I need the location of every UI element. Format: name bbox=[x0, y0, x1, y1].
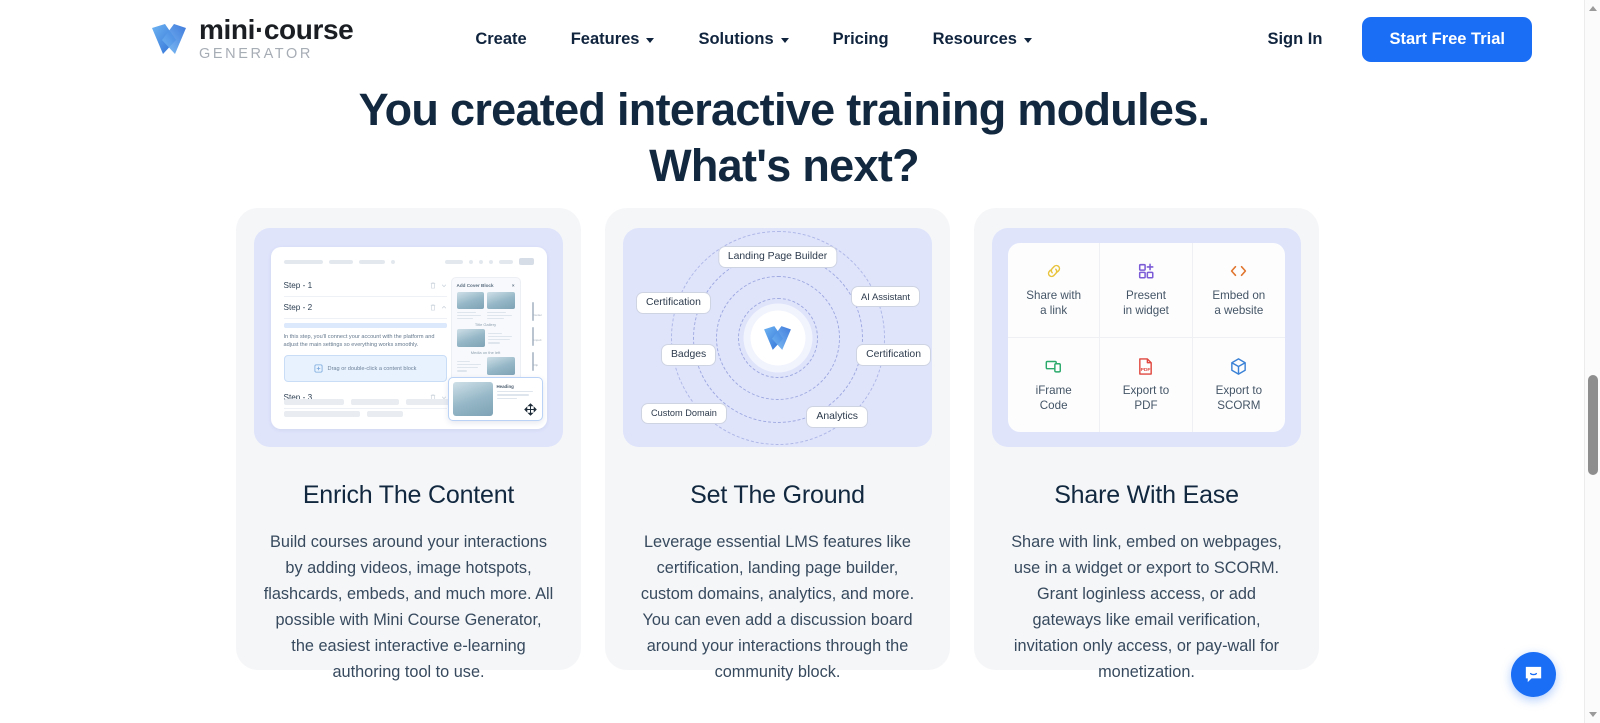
chevron-up-icon[interactable] bbox=[441, 304, 447, 311]
brand-wordmark: mini·course GENERATOR bbox=[199, 16, 353, 62]
share-option-share-with-a-link[interactable]: Share witha link bbox=[1008, 243, 1100, 338]
trash-icon[interactable] bbox=[430, 304, 436, 311]
panel-header: Add Cover Block × bbox=[457, 283, 515, 288]
nav-label: Solutions bbox=[698, 30, 773, 49]
card-title: Share With Ease bbox=[1054, 481, 1239, 510]
feature-cards: Step - 1 Step - 2 bbox=[236, 208, 1319, 670]
editor-mockup: Step - 1 Step - 2 bbox=[271, 247, 547, 429]
share-option-export-to-scorm[interactable]: Export toSCORM bbox=[1193, 338, 1285, 433]
sign-in-link[interactable]: Sign In bbox=[1267, 30, 1322, 49]
chevron-down-icon[interactable] bbox=[441, 282, 447, 289]
chevron-down-icon bbox=[781, 38, 789, 43]
brand-tagline: GENERATOR bbox=[199, 47, 353, 62]
pdf-icon: PDF bbox=[1137, 357, 1154, 376]
card-title: Set The Ground bbox=[690, 481, 865, 510]
scroll-down-arrow[interactable] bbox=[1585, 706, 1600, 723]
widget-add-icon bbox=[1137, 262, 1155, 281]
editor-toolbar bbox=[284, 258, 535, 266]
editor-progress-bar bbox=[284, 323, 447, 328]
nav-item-solutions[interactable]: Solutions bbox=[698, 30, 788, 49]
panel-thumb-row bbox=[457, 292, 515, 309]
scroll-up-arrow[interactable] bbox=[1585, 0, 1600, 17]
dragged-content-block[interactable]: Heading bbox=[448, 377, 543, 421]
thumbnail[interactable] bbox=[457, 329, 485, 347]
thumbnail[interactable] bbox=[487, 292, 515, 309]
code-icon bbox=[1229, 262, 1248, 281]
chevron-down-icon bbox=[646, 38, 654, 43]
feature-card-share-with-ease[interactable]: Share witha link bbox=[974, 208, 1319, 670]
feature-card-set-the-ground[interactable]: Landing Page Builder Certification AI As… bbox=[605, 208, 950, 670]
card-description: Leverage essential LMS features like cer… bbox=[625, 529, 930, 685]
share-options-grid: Share witha link bbox=[1008, 243, 1285, 432]
nav-label: Create bbox=[475, 30, 526, 49]
thumbnail[interactable] bbox=[487, 357, 515, 375]
share-option-label: Share witha link bbox=[1026, 288, 1081, 318]
svg-text:PDF: PDF bbox=[1141, 367, 1151, 373]
mini-course-logo-icon bbox=[763, 324, 793, 351]
editor-paragraph: In this step, you'll connect your accoun… bbox=[284, 333, 447, 350]
site-header: mini·course GENERATOR Create Features So… bbox=[0, 0, 1568, 78]
step-label: Step - 2 bbox=[284, 303, 313, 312]
rail-item-import[interactable]: Import bbox=[532, 328, 542, 346]
drag-card-title: Heading bbox=[497, 384, 538, 389]
share-option-embed-on-a-website[interactable]: Embed ona website bbox=[1193, 243, 1285, 338]
close-icon[interactable]: × bbox=[512, 283, 515, 288]
orbit-pill-custom-domain[interactable]: Custom Domain bbox=[641, 403, 727, 424]
page-title: You created interactive training modules… bbox=[0, 82, 1568, 194]
rail-item-center[interactable]: Center bbox=[532, 303, 542, 321]
share-option-label: iFrameCode bbox=[1036, 383, 1072, 413]
step-label: Step - 1 bbox=[284, 281, 313, 290]
card-description: Share with link, embed on webpages, use … bbox=[994, 529, 1299, 685]
nav-item-resources[interactable]: Resources bbox=[933, 30, 1032, 49]
panel-divider-label: Title Gallery bbox=[457, 322, 515, 327]
cube-icon bbox=[1229, 357, 1248, 376]
nav-item-pricing[interactable]: Pricing bbox=[833, 30, 889, 49]
share-option-label: Export toSCORM bbox=[1216, 383, 1262, 413]
orbit-pill-badges[interactable]: Badges bbox=[661, 344, 716, 366]
panel-title: Add Cover Block bbox=[457, 283, 494, 288]
chat-bubble-icon bbox=[1522, 663, 1545, 686]
panel-divider-label: Media on the left bbox=[457, 350, 515, 355]
orbit-pill-ai-assistant[interactable]: AI Assistant bbox=[851, 286, 920, 307]
editor-step-row[interactable]: Step - 2 bbox=[284, 297, 447, 319]
editor-steps: Step - 1 Step - 2 bbox=[284, 275, 447, 410]
brand-name: mini·course bbox=[199, 16, 353, 44]
editor-footer-placeholders bbox=[284, 399, 450, 417]
step-actions bbox=[430, 304, 447, 311]
nav-item-create[interactable]: Create bbox=[475, 30, 526, 49]
thumbnail bbox=[453, 382, 493, 416]
panel-thumb-row bbox=[457, 329, 515, 347]
add-block-icon bbox=[314, 364, 323, 373]
page-root: mini·course GENERATOR Create Features So… bbox=[0, 0, 1600, 723]
trash-icon[interactable] bbox=[430, 282, 436, 289]
main-navigation: Create Features Solutions Pricing Resour… bbox=[475, 30, 1032, 49]
orbit-pill-certification-left[interactable]: Certification bbox=[636, 292, 711, 314]
headline-line-2: What's next? bbox=[649, 140, 919, 191]
scroll-thumb[interactable] bbox=[1588, 375, 1598, 475]
orbit-center-logo bbox=[750, 310, 805, 365]
editor-drop-zone[interactable]: Drag or double-click a content block bbox=[284, 355, 447, 382]
nav-item-features[interactable]: Features bbox=[571, 30, 655, 49]
card-title: Enrich The Content bbox=[303, 481, 514, 510]
panel-thumb-row bbox=[457, 357, 515, 375]
share-option-label: Embed ona website bbox=[1212, 288, 1265, 318]
link-icon bbox=[1045, 262, 1063, 281]
thumbnail[interactable] bbox=[457, 292, 485, 309]
drop-zone-label: Drag or double-click a content block bbox=[328, 366, 417, 372]
feature-card-enrich-the-content[interactable]: Step - 1 Step - 2 bbox=[236, 208, 581, 670]
orbit-pill-certification-right[interactable]: Certification bbox=[856, 344, 931, 366]
move-cursor-icon bbox=[524, 403, 537, 416]
rail-item-flip[interactable]: Flip bbox=[532, 353, 542, 371]
share-option-present-in-widget[interactable]: Presentin widget bbox=[1100, 243, 1192, 338]
editor-step-row[interactable]: Step - 1 bbox=[284, 275, 447, 297]
headline-line-1: You created interactive training modules… bbox=[359, 84, 1210, 135]
share-option-label: Presentin widget bbox=[1123, 288, 1169, 318]
orbit-pill-landing-page-builder[interactable]: Landing Page Builder bbox=[718, 246, 837, 268]
nav-label: Features bbox=[571, 30, 640, 49]
card-description: Build courses around your interactions b… bbox=[256, 529, 561, 685]
nav-label: Pricing bbox=[833, 30, 889, 49]
brand-logo[interactable]: mini·course GENERATOR bbox=[150, 16, 353, 62]
page-scrollbar[interactable] bbox=[1584, 0, 1600, 723]
mini-course-logo-icon bbox=[150, 22, 188, 56]
orbit-pill-analytics[interactable]: Analytics bbox=[806, 406, 868, 428]
share-option-label: Export toPDF bbox=[1123, 383, 1169, 413]
card-illustration-share-options: Share witha link bbox=[992, 228, 1301, 447]
chevron-down-icon bbox=[1024, 38, 1032, 43]
editor-block-panel: Add Cover Block × Title Gallery bbox=[451, 277, 521, 389]
card-illustration-orbit: Landing Page Builder Certification AI As… bbox=[623, 228, 932, 447]
chat-launcher-button[interactable] bbox=[1511, 652, 1556, 697]
share-option-iframe-code[interactable]: iFrameCode bbox=[1008, 338, 1100, 433]
share-option-export-to-pdf[interactable]: PDF Export toPDF bbox=[1100, 338, 1192, 433]
start-free-trial-button[interactable]: Start Free Trial bbox=[1362, 17, 1532, 62]
step-actions bbox=[430, 282, 447, 289]
devices-icon bbox=[1044, 357, 1063, 376]
card-illustration-editor: Step - 1 Step - 2 bbox=[254, 228, 563, 447]
nav-label: Resources bbox=[933, 30, 1017, 49]
header-actions: Sign In Start Free Trial bbox=[1267, 17, 1532, 62]
